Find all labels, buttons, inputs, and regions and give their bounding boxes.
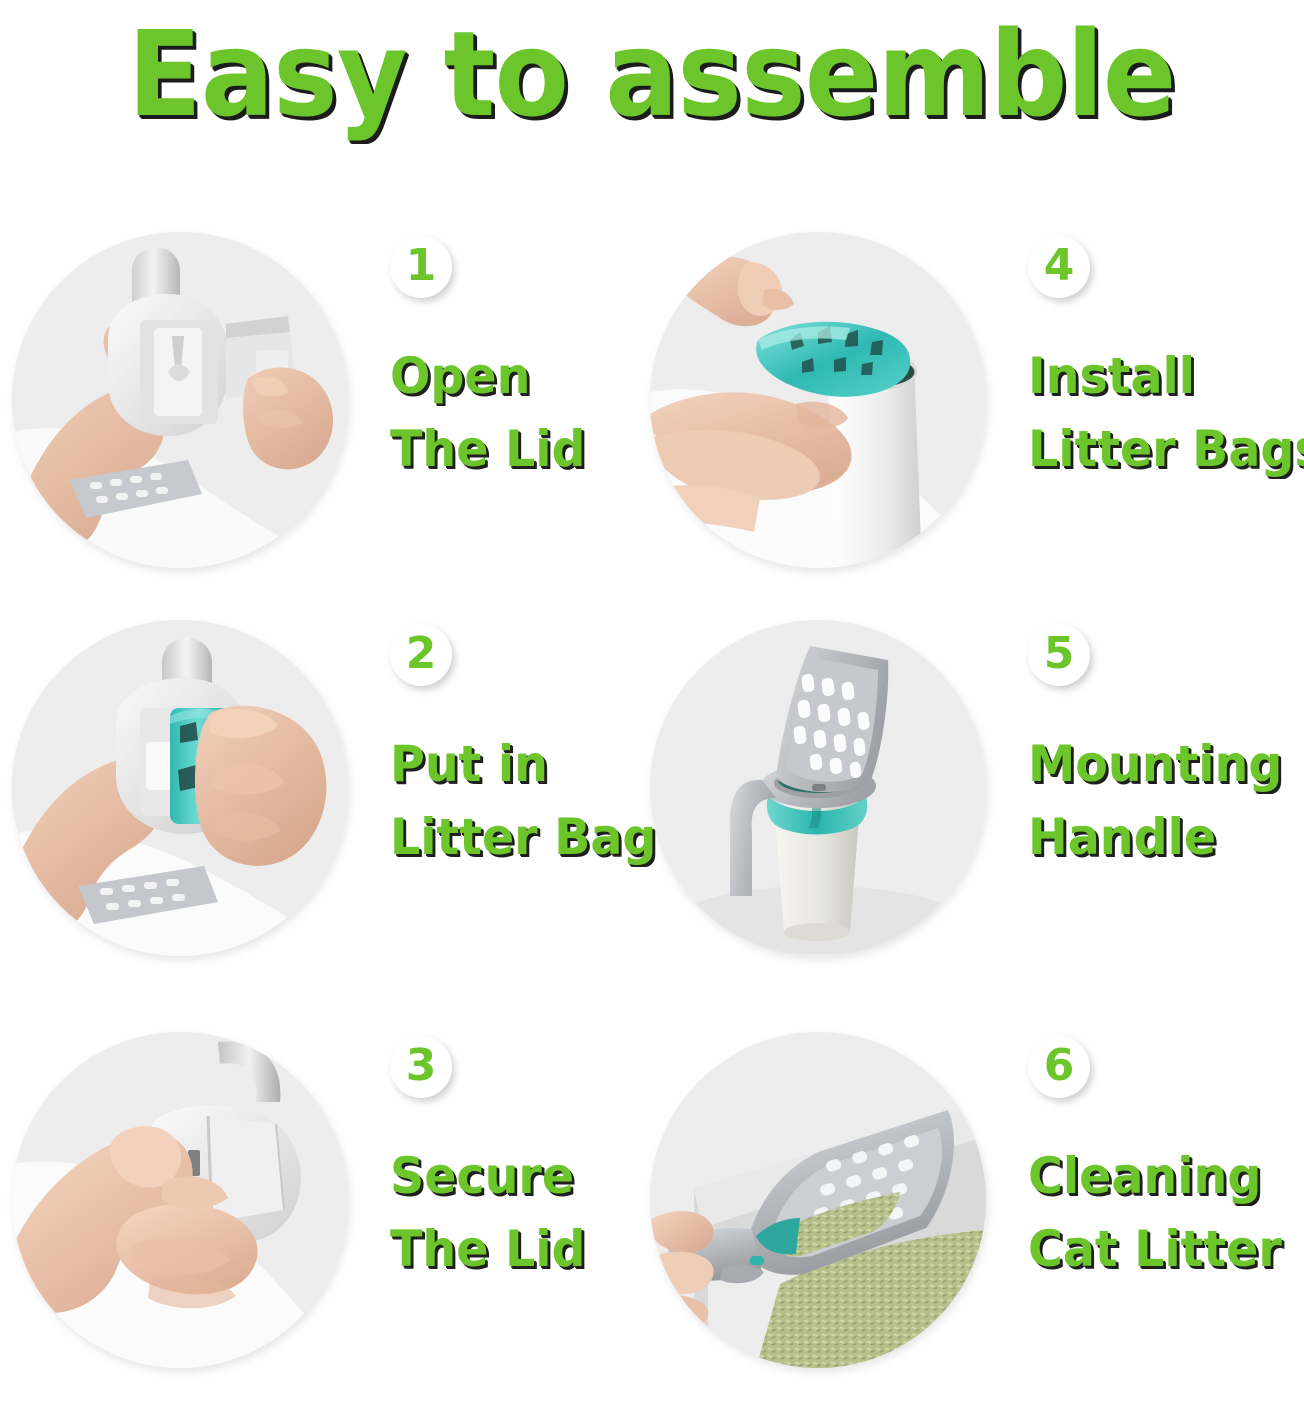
step-caption-line-6b: Cat Litter	[1028, 1213, 1282, 1286]
step-caption-3: Secure The Lid	[390, 1140, 652, 1286]
photo-secure-the-lid	[12, 1032, 348, 1368]
step-card-4: 4 Install Litter Bags	[638, 232, 1290, 622]
steps-grid: 1 Open The Lid	[0, 232, 1304, 1401]
step-caption-line-4a: Install	[1028, 340, 1304, 413]
photo-cleaning-cat-litter	[650, 1032, 986, 1368]
step-number-badge-5: 5	[1028, 624, 1090, 686]
step-text-3: 3 Secure The Lid	[348, 1032, 652, 1286]
step-text-5: 5 Mounting Handle	[986, 620, 1296, 874]
step-caption-line-1a: Open	[390, 340, 639, 413]
page-title: Easy to assemble	[128, 15, 1176, 133]
step-card-3: 3 Secure The Lid	[0, 1032, 652, 1422]
step-card-5: 5 Mounting Handle	[638, 620, 1290, 1010]
step-caption-line-3b: The Lid	[390, 1213, 639, 1286]
step-caption-5: Mounting Handle	[1028, 728, 1296, 874]
step-card-1: 1 Open The Lid	[0, 232, 652, 622]
step-caption-line-3a: Secure	[390, 1140, 639, 1213]
step-number-badge-4: 4	[1028, 236, 1090, 298]
step-number-3: 3	[406, 1044, 437, 1088]
step-caption-6: Cleaning Cat Litter	[1028, 1140, 1295, 1286]
step-number-6: 6	[1044, 1044, 1075, 1088]
step-caption-line-6a: Cleaning	[1028, 1140, 1282, 1213]
photo-install-litter-bags	[650, 232, 986, 568]
step-card-6: 6 Cleaning Cat Litter	[638, 1032, 1290, 1422]
step-caption-line-5a: Mounting	[1028, 728, 1282, 801]
photo-put-in-litter-bag	[12, 620, 348, 956]
step-text-6: 6 Cleaning Cat Litter	[986, 1032, 1295, 1286]
step-number-1: 1	[406, 244, 437, 288]
step-caption-line-4b: Litter Bags	[1028, 413, 1304, 486]
step-caption-line-1b: The Lid	[390, 413, 639, 486]
step-caption-2: Put in Litter Bag	[390, 728, 670, 874]
step-text-2: 2 Put in Litter Bag	[348, 620, 670, 874]
step-number-badge-1: 1	[390, 236, 452, 298]
step-number-5: 5	[1044, 632, 1075, 676]
step-text-1: 1 Open The Lid	[348, 232, 652, 486]
step-caption-line-2a: Put in	[390, 728, 656, 801]
step-number-badge-6: 6	[1028, 1036, 1090, 1098]
page-header: Easy to assemble	[0, 0, 1304, 148]
step-number-badge-3: 3	[390, 1036, 452, 1098]
step-caption-line-5b: Handle	[1028, 801, 1282, 874]
step-caption-line-2b: Litter Bag	[390, 801, 656, 874]
step-text-4: 4 Install Litter Bags	[986, 232, 1304, 486]
photo-mounting-handle	[650, 620, 986, 956]
step-caption-1: Open The Lid	[390, 340, 652, 486]
step-number-2: 2	[406, 632, 437, 676]
step-caption-4: Install Litter Bags	[1028, 340, 1304, 486]
step-number-4: 4	[1044, 244, 1075, 288]
photo-open-the-lid	[12, 232, 348, 568]
step-number-badge-2: 2	[390, 624, 452, 686]
step-card-2: 2 Put in Litter Bag	[0, 620, 652, 1010]
